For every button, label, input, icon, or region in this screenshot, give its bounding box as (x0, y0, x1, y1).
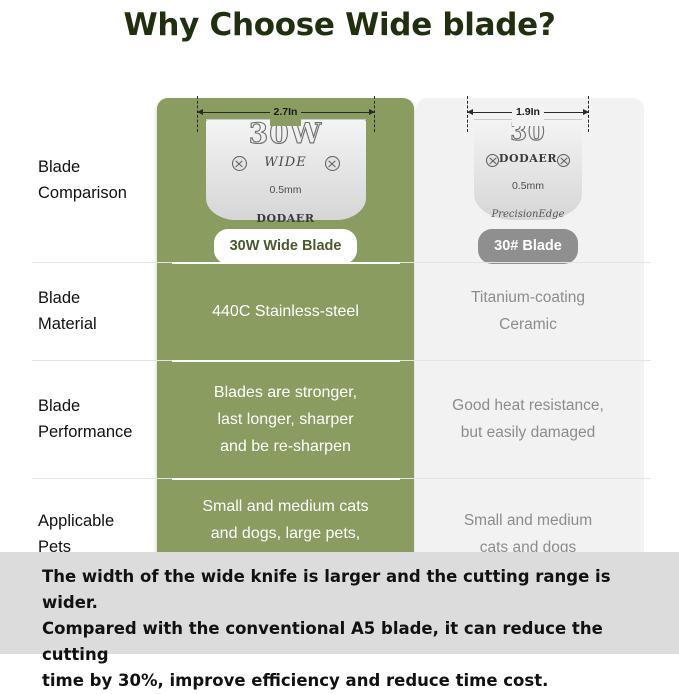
dimension-tick-left (197, 96, 198, 132)
table-row: Blade Comparison 2.7In (0, 98, 679, 262)
blade-body: 30 DODAER 0.5mm PrecisionEdge (474, 120, 582, 228)
table-row: Blade Material 440C Stainless-steel Tita… (0, 262, 679, 360)
row-label-line2: Comparison (38, 180, 157, 206)
comparison-rows: Blade Comparison 2.7In (0, 98, 679, 589)
dimension-tick-right (374, 96, 375, 132)
screw-icon (557, 154, 570, 167)
dimension-tick-right (588, 96, 589, 132)
standard-blade-dimension: 1.9In (467, 104, 589, 120)
dimension-tick-left (467, 96, 468, 132)
blade-brand-text: DODAER (256, 205, 314, 232)
row-label-line1: Blade (38, 285, 157, 311)
dimension-label: 2.7In (270, 99, 302, 126)
blade-edge-text: PrecisionEdge (491, 201, 564, 228)
wide-material-cell: 440C Stainless-steel (157, 262, 414, 360)
blade-brand-text: DODAER (499, 145, 557, 172)
row-label-line1: Blade (38, 154, 157, 180)
standard-material-cell: Titanium-coating Ceramic (414, 262, 642, 360)
wide-blade-badge: 30W Wide Blade (214, 229, 358, 264)
screw-icon (232, 156, 247, 171)
footer-banner: The width of the wide knife is larger an… (0, 552, 679, 654)
wide-blade-graphic: 2.7In 30W WIDE 0.5mm DODAER 30 (197, 96, 375, 264)
page-title: Why Choose Wide blade? (0, 0, 679, 46)
wide-blade-cell: 2.7In 30W WIDE 0.5mm DODAER 30 (157, 98, 414, 262)
cell-text-line: Ceramic (499, 311, 557, 338)
row-label-line2: Performance (38, 419, 157, 445)
cell-text-line: last longer, sharper (217, 406, 353, 433)
row-label-line1: Blade (38, 393, 157, 419)
table-row: Blade Performance Blades are stronger, l… (0, 360, 679, 478)
blade-size-text: 0.5mm (512, 173, 544, 200)
row-label-blade-performance: Blade Performance (0, 360, 157, 478)
row-label-line2: Material (38, 311, 157, 337)
footer-line-3: time by 30%, improve efficiency and redu… (42, 668, 649, 694)
standard-blade-badge: 30# Blade (478, 229, 578, 264)
row-label-line1: Applicable (38, 508, 157, 534)
standard-blade-cell: 1.9In 30 DODAER 0.5mm PrecisionEdge (414, 98, 642, 262)
row-label-blade-material: Blade Material (0, 262, 157, 360)
row-label-blade-comparison: Blade Comparison (0, 98, 157, 262)
cell-text-line: and dogs, large pets, (211, 520, 360, 547)
standard-blade-image: 30 DODAER 0.5mm PrecisionEdge (474, 120, 582, 220)
standard-performance-cell: Good heat resistance, but easily damaged (414, 360, 642, 478)
blade-variant-text: WIDE (264, 149, 306, 176)
screw-icon (486, 154, 499, 167)
screw-icon (325, 156, 340, 171)
cell-text-line: Titanium-coating (471, 284, 585, 311)
cell-text-line: Blades are stronger, (214, 379, 357, 406)
cell-text-line: 440C Stainless-steel (212, 298, 359, 325)
footer-line-2: Compared with the conventional A5 blade,… (42, 616, 649, 668)
cell-text-line: but easily damaged (461, 419, 595, 446)
blade-body: 30W WIDE 0.5mm DODAER (206, 120, 366, 232)
cell-text-line: Small and medium cats (202, 493, 368, 520)
blade-size-text: 0.5mm (269, 177, 301, 204)
wide-blade-dimension: 2.7In (197, 104, 375, 120)
wide-blade-image: 30W WIDE 0.5mm DODAER (206, 120, 366, 220)
standard-blade-graphic: 1.9In 30 DODAER 0.5mm PrecisionEdge (467, 96, 589, 264)
footer-line-1: The width of the wide knife is larger an… (42, 564, 649, 616)
cell-text-line: Good heat resistance, (452, 392, 604, 419)
cell-text-line: and be re-sharpen (220, 433, 351, 460)
cell-text-line: Small and medium (464, 507, 592, 534)
dimension-label: 1.9In (512, 99, 544, 126)
wide-performance-cell: Blades are stronger, last longer, sharpe… (157, 360, 414, 478)
comparison-table: Blade Comparison 2.7In (0, 46, 679, 546)
